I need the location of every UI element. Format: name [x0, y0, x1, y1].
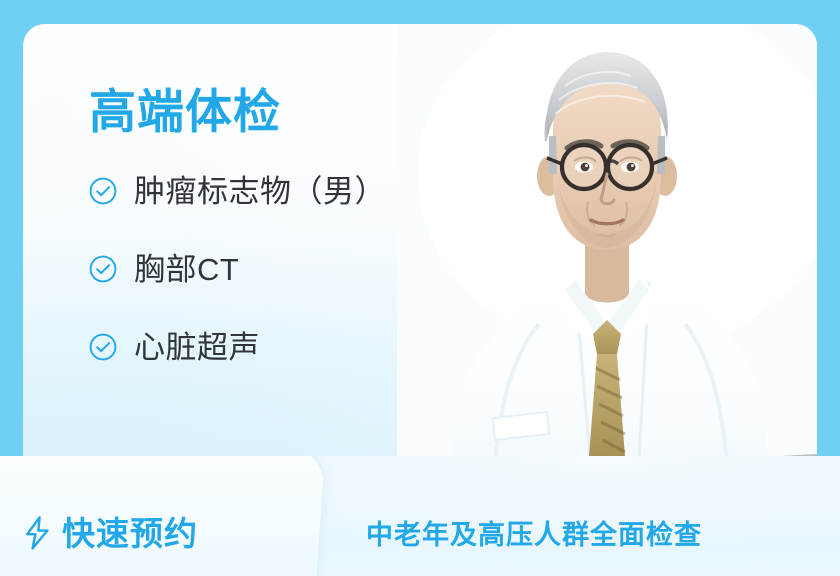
- card-content: 高端体检 肿瘤标志物（男） 胸部CT: [89, 88, 489, 367]
- check-circle-icon: [89, 333, 117, 361]
- list-item: 心脏超声: [89, 327, 489, 367]
- list-item: 胸部CT: [89, 249, 489, 289]
- check-circle-icon: [89, 177, 117, 205]
- quick-booking-label: 快速预约: [62, 517, 198, 550]
- quick-booking-button[interactable]: 快速预约: [24, 516, 198, 550]
- list-item-label: 胸部CT: [134, 254, 239, 285]
- promo-banner: 高端体检 肿瘤标志物（男） 胸部CT: [0, 0, 840, 576]
- band-tagline: 中老年及高压人群全面检查: [366, 522, 702, 549]
- lightning-bolt-icon: [24, 516, 51, 550]
- feature-list: 肿瘤标志物（男） 胸部CT 心脏超声: [89, 171, 489, 367]
- page-title: 高端体检: [89, 88, 489, 135]
- bottom-band: 快速预约 中老年及高压人群全面检查: [0, 456, 840, 576]
- list-item: 肿瘤标志物（男）: [89, 171, 489, 211]
- list-item-label: 肿瘤标志物（男）: [134, 176, 386, 207]
- check-circle-icon: [89, 255, 117, 283]
- list-item-label: 心脏超声: [134, 332, 260, 363]
- promo-card: 高端体检 肿瘤标志物（男） 胸部CT: [23, 24, 817, 494]
